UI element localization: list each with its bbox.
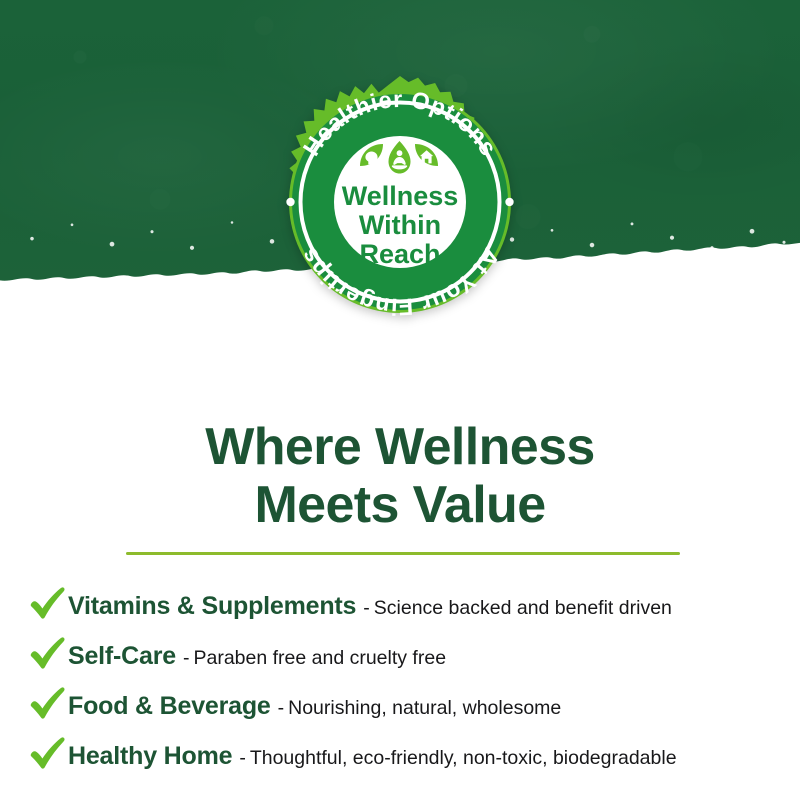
- list-item-description-text: Nourishing, natural, wholesome: [288, 697, 561, 719]
- promo-banner-card: Healthier Options At Your Fingertips: [0, 0, 800, 800]
- list-item-description: -Paraben free and cruelty free: [183, 647, 446, 670]
- checkmark-icon: [28, 686, 68, 720]
- page-title: Where Wellness Meets Value: [0, 418, 800, 534]
- list-item: Vitamins & Supplements -Science backed a…: [28, 580, 788, 630]
- list-item-label: Vitamins & Supplements: [68, 592, 356, 621]
- badge-center-line-2: Within: [359, 210, 441, 240]
- list-item: Healthy Home -Thoughtful, eco-friendly, …: [28, 730, 788, 780]
- badge-center-line-3: Reach: [359, 239, 440, 269]
- benefits-list: Vitamins & Supplements -Science backed a…: [28, 580, 788, 780]
- checkmark-icon: [28, 586, 68, 620]
- list-item: Self-Care -Paraben free and cruelty free: [28, 630, 788, 680]
- list-item-label: Food & Beverage: [68, 692, 271, 721]
- list-item-separator: -: [183, 647, 190, 669]
- checkmark-icon: [28, 636, 68, 670]
- title-divider: [126, 552, 680, 555]
- list-item-description: -Thoughtful, eco-friendly, non-toxic, bi…: [239, 747, 676, 770]
- list-item-label: Self-Care: [68, 642, 176, 671]
- list-item-description: -Science backed and benefit driven: [363, 597, 672, 620]
- list-item-description-text: Thoughtful, eco-friendly, non-toxic, bio…: [250, 747, 677, 769]
- checkmark-icon: [28, 736, 68, 770]
- badge-center-line-1: Wellness: [342, 181, 459, 211]
- list-item-description: -Nourishing, natural, wholesome: [278, 697, 562, 720]
- badge-dot-right: [505, 198, 513, 206]
- list-item-label: Healthy Home: [68, 742, 232, 771]
- badge-dot-left: [286, 198, 294, 206]
- list-item-separator: -: [239, 747, 246, 769]
- seal-badge: Healthier Options At Your Fingertips: [274, 76, 526, 328]
- list-item-description-text: Paraben free and cruelty free: [193, 647, 446, 669]
- list-item-description-text: Science backed and benefit driven: [374, 597, 672, 619]
- list-item-separator: -: [278, 697, 285, 719]
- list-item-separator: -: [363, 597, 370, 619]
- list-item: Food & Beverage -Nourishing, natural, wh…: [28, 680, 788, 730]
